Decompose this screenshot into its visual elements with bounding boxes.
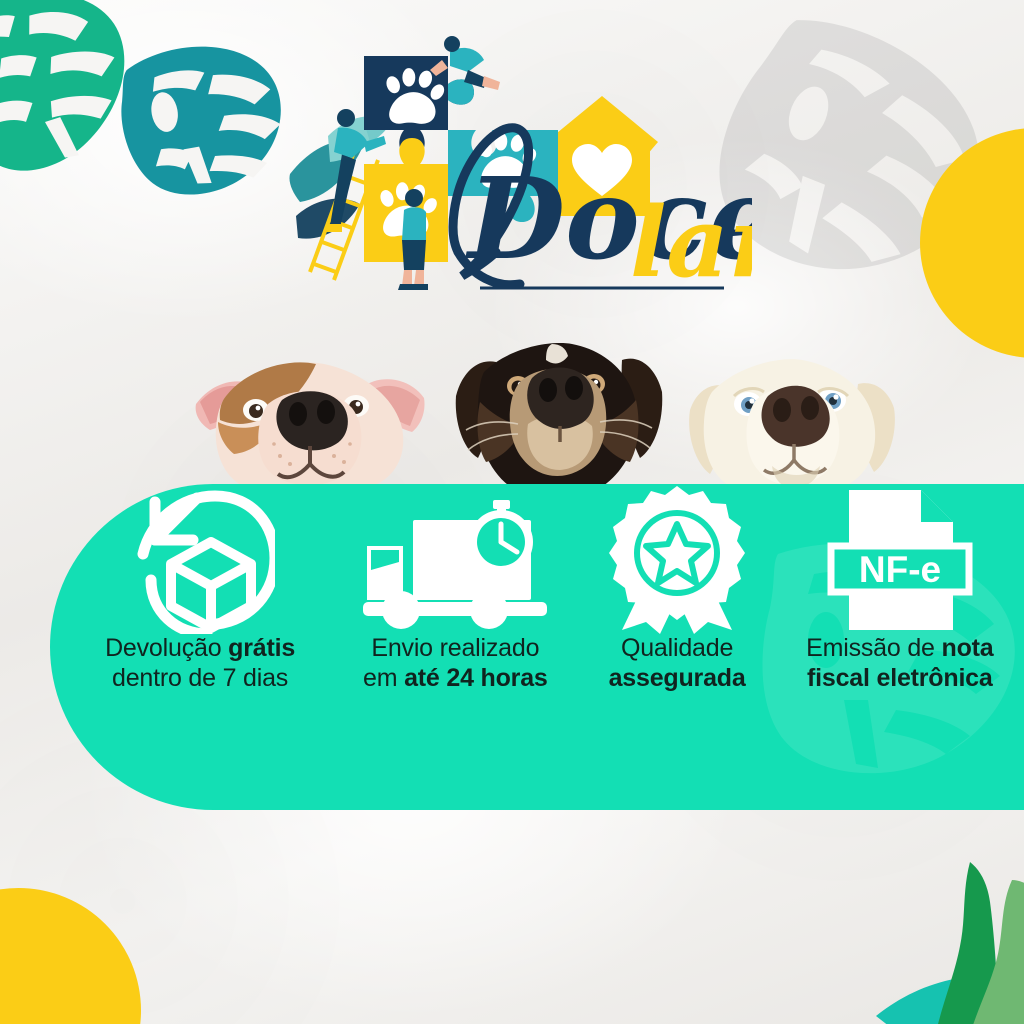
features-list: Devolução grátis dentro de 7 dias xyxy=(50,484,1024,810)
feature-caption: Emissão de nota fiscal eletrônica xyxy=(806,634,993,693)
dog-photo-right xyxy=(676,352,908,488)
monstera-leaf-teal-top-left xyxy=(100,22,300,212)
feature-line1-plain: Qualidade xyxy=(621,634,733,662)
feature-item-qualidade: Qualidade assegurada xyxy=(579,484,776,693)
feature-line1-bold: grátis xyxy=(228,634,295,662)
feature-line1-plain: Emissão de xyxy=(806,634,941,662)
brand-logo-lockup: Doce lar xyxy=(272,26,752,306)
wordmark-secondary: lar xyxy=(630,186,752,299)
nfe-document-icon: NF-e xyxy=(825,484,975,634)
features-band: Devolução grátis dentro de 7 dias xyxy=(50,484,1024,810)
feature-line2-bold: até 24 horas xyxy=(404,664,548,692)
quality-award-badge-icon xyxy=(602,484,752,634)
delivery-truck-stopwatch-icon xyxy=(355,484,555,634)
feature-caption: Qualidade assegurada xyxy=(609,634,746,693)
feature-caption: Envio realizado em até 24 horas xyxy=(363,634,548,693)
grass-leaf-light-green-bottom-right xyxy=(966,880,1024,1024)
feature-line2-plain: dentro de 7 dias xyxy=(112,664,288,692)
feature-line1-plain: Devolução xyxy=(105,634,228,662)
feature-line1-plain: Envio realizado xyxy=(371,634,539,662)
feature-item-envio-rapido: Envio realizado em até 24 horas xyxy=(332,484,578,693)
feature-caption: Devolução grátis dentro de 7 dias xyxy=(105,634,295,693)
promo-banner: Doce lar xyxy=(0,0,1024,1024)
feature-line2-bold: fiscal eletrônica xyxy=(807,664,993,692)
dog-photo-left xyxy=(186,352,436,488)
feature-line2-plain: em xyxy=(363,664,404,692)
feature-line1-bold: nota xyxy=(942,634,994,662)
feature-item-devolucao-gratis: Devolução grátis dentro de 7 dias xyxy=(68,484,332,693)
feature-item-nota-fiscal: NF-e Emissão de nota fiscal eletrônica xyxy=(776,484,1024,693)
dog-photo-center xyxy=(454,338,664,488)
return-box-icon xyxy=(125,484,275,634)
feature-line2-bold: assegurada xyxy=(609,664,746,692)
wordmark: Doce lar xyxy=(453,128,752,299)
stopwatch-icon xyxy=(469,500,533,574)
nfe-label: NF-e xyxy=(859,549,941,590)
